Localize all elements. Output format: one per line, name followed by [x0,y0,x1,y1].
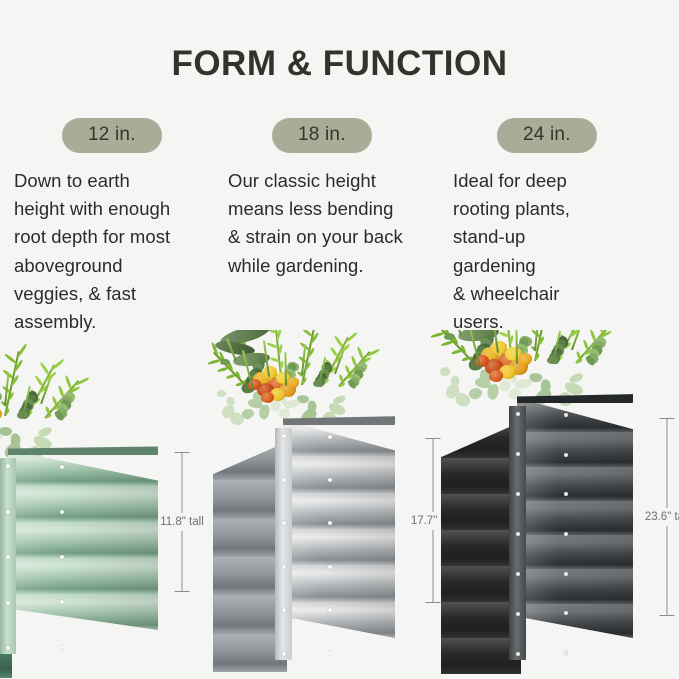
feature-description-12in: Down to earth height with enough root de… [14,167,214,337]
bed-rivet [282,434,286,438]
ivy-leaf [440,367,450,375]
bed-rivet [516,652,520,656]
dimension-cap-top [426,438,441,439]
flower-bloom [287,377,300,388]
frond-leaflet [313,330,324,331]
dimension-23-6-tall: 23.6" tall [638,418,679,616]
dimension-11-8-tall: 11.8" tall [152,452,212,592]
height-badge-24in: 24 in. [497,118,597,153]
frond-leaflet [301,377,307,384]
bed-rivet [516,572,520,576]
frond-leaflet [74,377,90,387]
bed-rivet [328,435,332,439]
frond-leaflet [276,330,283,341]
frond-leaflet [344,332,358,344]
product-image-charcoal-bed [441,388,633,679]
bed-corner-post [509,406,526,660]
height-badge-12in: 12 in. [62,118,162,153]
frond-leaflet [540,330,550,331]
frond-leaflet [34,375,44,388]
bed-front-sheen [8,450,158,630]
frond-leaflet [235,370,241,379]
frond-leaflet [357,346,364,360]
bed-rivet [6,646,10,650]
feature-description-24in: Ideal for deep rooting plants, stand-up … [453,167,653,337]
bed-rivet [60,555,64,559]
product-image-silver-bed [213,412,395,679]
feature-column-12in: 12 in. Down to earth height with enough … [14,118,214,337]
flower-bloom [518,353,532,365]
frond-leaflet [366,349,381,358]
frond-leaflet [329,347,338,359]
bed-rivet [282,652,286,656]
feature-column-18in: 18 in. Our classic height means less ben… [228,118,428,280]
ivy-leaf [332,394,347,405]
bed-rivet [60,465,64,469]
frond-leaflet [534,353,541,361]
feature-columns: 12 in. Down to earth height with enough … [0,118,679,348]
frond-leaflet [461,345,467,355]
bed-rivet [282,521,286,525]
bed-rivet [328,565,332,569]
ivy-leaf [217,390,226,397]
bed-rivet [564,572,568,576]
ivy-leaf [451,375,460,385]
flower-bloom [489,370,503,382]
product-photo-stage: 11.8" tall 17.7" tall 23.6" tall [0,330,679,679]
dimension-cap-bottom [660,615,675,616]
bed-rivet [6,464,10,468]
bed-front-sheen [517,398,633,638]
bed-rivet [516,412,520,416]
bed-rivet [6,510,10,514]
product-image-mint-green-bed [0,440,158,679]
bed-rivet [516,452,520,456]
bed-rivet [6,601,10,605]
foliage-leaf [444,333,455,340]
infographic-page: FORM & FUNCTION 12 in. Down to earth hei… [0,0,679,679]
frond-leaflet [267,342,279,350]
badge-wrap-12in: 12 in. [14,118,214,153]
dimension-label: 11.8" tall [158,513,206,531]
dimension-cap-top [660,418,675,419]
bed-rivet [564,413,568,417]
bed-rivet [564,532,568,536]
bed-rivet [564,453,568,457]
frond-leaflet [537,336,545,346]
bed-rivet [60,600,64,604]
frond-leaflet [338,382,345,388]
bed-rivet [60,510,64,514]
feature-description-18in: Our classic height means less bending & … [228,167,428,280]
bed-rivet [516,492,520,496]
bed-rivet [328,651,332,655]
frond-leaflet [334,335,344,348]
height-badge-18in: 18 in. [272,118,372,153]
bed-rivet [516,612,520,616]
bed-corner-post [275,428,292,660]
ivy-leaf [226,397,234,406]
dimension-cap-bottom [426,602,441,603]
flower-bloom [0,408,2,420]
badge-wrap-24in: 24 in. [453,118,653,153]
frond-leaflet [44,414,52,420]
dimension-cap-top [175,452,190,453]
frond-leaflet [16,343,28,358]
frond-leaflet [4,353,17,365]
grass-blade [284,352,287,386]
bed-rivet [6,555,10,559]
frond-leaflet [575,359,583,365]
bed-rivet [282,608,286,612]
frond-leaflet [440,340,453,346]
grass-blade [515,330,518,363]
frond-leaflet [430,332,446,339]
bed-rivet [328,608,332,612]
frond-leaflet [270,357,280,364]
bed-rivet [516,532,520,536]
bed-front-sheen [283,420,395,638]
bed-front-panel [517,398,633,638]
dimension-label: 23.6" tall [643,508,679,526]
frond-leaflet [4,408,11,416]
frond-leaflet [499,331,510,338]
frond-leaflet [39,362,50,376]
page-title: FORM & FUNCTION [0,44,679,84]
bed-rivet [282,478,286,482]
frond-leaflet [217,366,229,372]
frond-leaflet [509,335,515,345]
bed-rivet [564,651,568,655]
frond-leaflet [451,349,462,355]
ivy-leaf [37,426,53,438]
ivy-leaf [568,372,584,384]
frond-leaflet [51,359,66,372]
badge-wrap-18in: 18 in. [228,118,428,153]
frond-leaflet [301,330,313,338]
flower-bloom [261,392,274,403]
bed-front-panel [8,450,158,630]
bed-corner-post [0,458,16,654]
frond-leaflet [226,373,236,378]
frond-leaflet [65,375,73,390]
bed-rivet [60,645,64,649]
bed-rivet [282,565,286,569]
dimension-cap-bottom [175,591,190,592]
bed-front-panel [283,420,395,638]
feature-column-24in: 24 in. Ideal for deep rooting plants, st… [453,118,653,337]
